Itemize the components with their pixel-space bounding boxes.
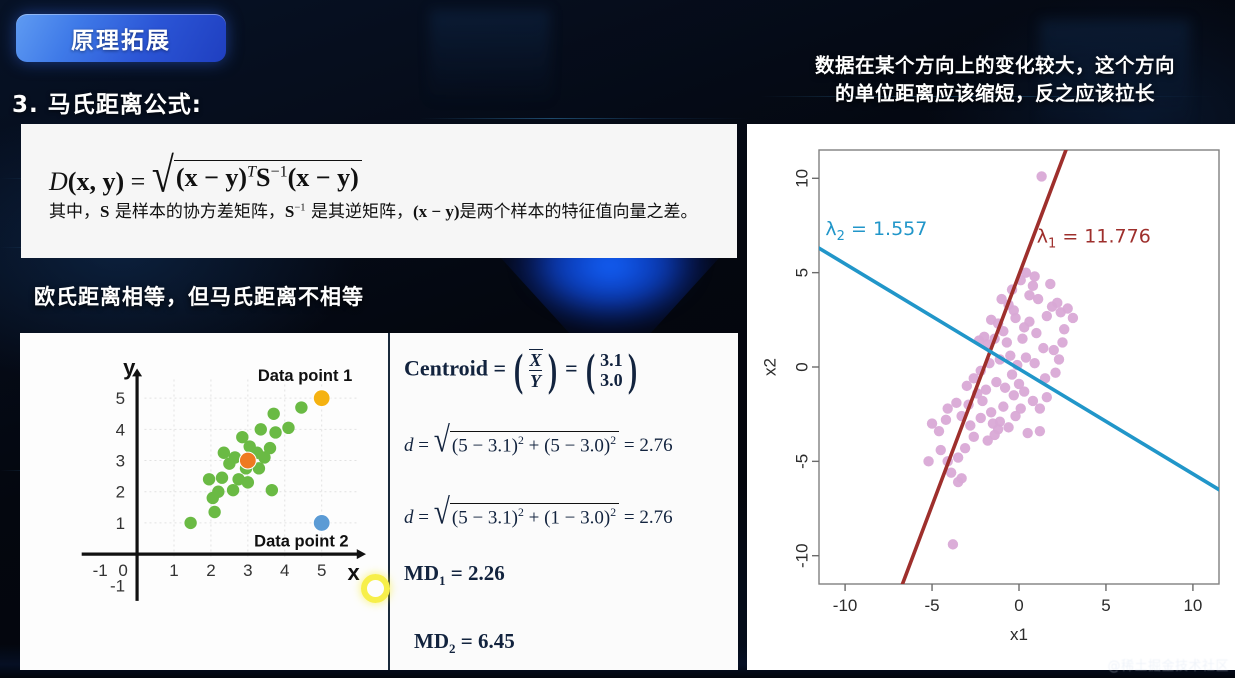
data-point (1009, 305, 1019, 315)
d1-result-equals: = (624, 435, 635, 456)
data-point (981, 384, 991, 394)
watermark: @稀土掘金技术社区 (1107, 655, 1229, 674)
data-point-cluster (255, 423, 267, 435)
data-point (941, 415, 951, 425)
note-text-3: 是其逆矩阵， (311, 202, 413, 222)
d2-lhs: d (404, 507, 414, 528)
euclidean-figure-panel: yx-1012345-112345Data point 1Data point … (20, 333, 738, 670)
d1-exp-2: 2 (610, 434, 616, 447)
md1-value: 2.26 (468, 561, 505, 585)
data-point (1031, 328, 1041, 338)
x-axis-label: x (348, 560, 361, 585)
radicand-S-inverse-exp: −1 (270, 163, 287, 180)
y-axis-label: x2 (760, 358, 779, 376)
paren-close-icon: ) (547, 354, 556, 386)
data-point (1024, 290, 1034, 300)
x-tick-label: 10 (1183, 596, 1202, 615)
data-point (1028, 281, 1038, 291)
data-point (1059, 324, 1069, 334)
background-streak (420, 118, 750, 119)
euclidean-distance-2-equation: d = √ (5 − 3.1)2 + (1 − 3.0)2 = 2.76 (404, 501, 673, 529)
x-tick-label: 3 (243, 561, 252, 580)
centroid-ybar: Y (529, 370, 542, 391)
x-tick-label: 4 (280, 561, 289, 580)
data-point (1017, 333, 1027, 343)
centroid-xbar: X (529, 349, 543, 370)
y-tick-label: 10 (792, 169, 811, 188)
note-text-4: 是两个样本的特征值向量之差。 (459, 202, 697, 222)
x-tick-label: 0 (1014, 596, 1023, 615)
data-point (1002, 337, 1012, 347)
euclidean-caption: 欧氏距离相等，但马氏距离不相等 (34, 281, 364, 311)
data-point (962, 381, 972, 391)
radicand: (5 − 3.1)2 + (5 − 3.0)2 (450, 431, 619, 457)
x-tick-label: 1 (169, 561, 178, 580)
data-point (1005, 350, 1015, 360)
x-tick-label: 5 (1101, 596, 1110, 615)
data-point (1024, 317, 1034, 327)
data-point (923, 456, 933, 466)
data-point (1007, 369, 1017, 379)
data-point (934, 426, 944, 436)
x-tick-label: 2 (206, 561, 215, 580)
data-point (965, 420, 975, 430)
right-annotation: 数据在某个方向上的变化较大，这个方向 的单位距离应该缩短，反之应该拉长 (770, 52, 1220, 109)
page-title: 3. 马氏距离公式: (12, 85, 202, 119)
data-point-centroid (239, 452, 256, 469)
centroid-equation: Centroid = ( X Y ) = ( 3.1 3.0 (404, 349, 640, 391)
data-point (960, 443, 970, 453)
data-point (1035, 426, 1045, 436)
d2-equals: = (418, 507, 429, 528)
centroid-vector: ( X Y ) (511, 349, 559, 391)
data-point (977, 396, 987, 406)
centroid-equals-2: = (565, 355, 578, 380)
formula-panel: D(x, y) = √ (x − y)TS−1(x − y) 其中，S 是样本的… (21, 124, 737, 258)
scatter-chart-left-svg: yx-1012345-112345Data point 1Data point … (20, 333, 388, 670)
data-point-cluster (243, 440, 255, 452)
radical-sign: √ (434, 497, 450, 532)
md2-label: MD (414, 629, 449, 653)
note-symbol-diff: (x − y) (413, 202, 460, 221)
data-point-cluster (216, 472, 228, 484)
data-point (1038, 343, 1048, 353)
md1-label: MD (404, 561, 439, 585)
data-point (1062, 303, 1072, 313)
data-point (1049, 345, 1059, 355)
x-tick-label: -5 (924, 596, 939, 615)
data-point (993, 424, 1003, 434)
square-root: √ (5 − 3.1)2 + (1 − 3.0)2 (434, 501, 619, 529)
data-point-cluster (267, 408, 279, 420)
md2-value: 6.45 (478, 629, 515, 653)
md2-subscript: 2 (449, 641, 456, 656)
d2-plus: + (529, 507, 540, 528)
background-block (430, 10, 550, 100)
radicand-diff-1: (x − y) (176, 163, 247, 192)
data-point (1068, 313, 1078, 323)
y-tick-label: -5 (792, 454, 811, 469)
right-annotation-line2: 的单位距离应该缩短，反之应该拉长 (770, 80, 1220, 108)
y-axis-label: y (123, 355, 136, 380)
y-tick-label: 5 (792, 268, 811, 277)
x-axis-arrow-icon (357, 549, 366, 559)
eigenvalue-symbol: λ (825, 218, 836, 240)
data-point (1050, 367, 1060, 377)
data-point-cluster (269, 426, 281, 438)
data-point-cluster (266, 484, 278, 496)
data-point-cluster (208, 506, 220, 518)
mahalanobis-distance-2: MD2 = 6.45 (414, 629, 515, 657)
data-point (953, 477, 963, 487)
radicand-transpose: T (247, 163, 256, 180)
note-text-1: 其中， (49, 202, 100, 222)
pca-chart-svg: λ1 = 11.776λ2 = 1.557-10-50510x1-10-5051… (747, 124, 1235, 670)
slide-canvas: 原理拓展 3. 马氏距离公式: D(x, y) = √ (x − y)TS−1(… (0, 0, 1235, 678)
note-symbol-S: S (100, 202, 109, 221)
square-root: √ (5 − 3.1)2 + (5 − 3.0)2 (434, 429, 619, 457)
data-point (1036, 171, 1046, 181)
section-badge-label: 原理拓展 (71, 21, 171, 55)
centroid-values: 3.1 3.0 (598, 350, 625, 390)
y-tick-label: -1 (110, 576, 125, 595)
radicand: (x − y)TS−1(x − y) (174, 160, 362, 195)
d2-result-equals: = (624, 507, 635, 528)
data-point (936, 445, 946, 455)
y-tick-label: 0 (792, 362, 811, 371)
radical-sign: √ (152, 153, 174, 198)
d1-exp-1: 2 (518, 434, 524, 447)
y-tick-label: -10 (792, 543, 811, 568)
data-point (998, 401, 1008, 411)
formula-lhs-args: (x, y) (68, 167, 124, 196)
scatter-annotation: Data point 2 (254, 532, 348, 550)
data-point-cluster (295, 401, 307, 413)
pca-chart-panel: λ1 = 11.776λ2 = 1.557-10-50510x1-10-5051… (747, 124, 1235, 670)
right-annotation-line1: 数据在某个方向上的变化较大，这个方向 (770, 52, 1220, 80)
centroid-value-y: 3.0 (600, 370, 623, 390)
radical-sign: √ (434, 425, 450, 460)
formula-lhs-symbol: D (49, 167, 68, 196)
radicand: (5 − 3.1)2 + (1 − 3.0)2 (450, 503, 619, 529)
d1-result: 2.76 (639, 435, 672, 456)
data-point (953, 452, 963, 462)
d2-exp-2: 2 (610, 506, 616, 519)
x-tick-label: -1 (93, 561, 108, 580)
data-point-cluster (218, 447, 230, 459)
data-point (1021, 352, 1031, 362)
paren-open-icon: ( (514, 354, 523, 386)
mahalanobis-distance-1: MD1 = 2.26 (404, 561, 505, 589)
paren-close-icon: ) (628, 354, 637, 386)
md1-equals: = (451, 561, 463, 585)
d2-exp-1: 2 (518, 506, 524, 519)
y-tick-label: 3 (116, 452, 125, 471)
centroid-value-vector: ( 3.1 3.0 ) (583, 350, 640, 390)
data-point-cluster (282, 422, 294, 434)
data-point (986, 407, 996, 417)
data-point (951, 398, 961, 408)
data-point-cluster (184, 517, 196, 529)
data-point-cluster (203, 473, 215, 485)
data-point (1042, 392, 1052, 402)
data-point (1016, 403, 1026, 413)
d2-term-2: (1 − 3.0) (544, 507, 610, 528)
data-point (991, 377, 1001, 387)
euclidean-distance-1-equation: d = √ (5 − 3.1)2 + (5 − 3.0)2 = 2.76 (404, 429, 673, 457)
note-symbol-S-inverse: S (285, 202, 294, 221)
radicand-diff-2: (x − y) (288, 163, 359, 192)
section-badge[interactable]: 原理拓展 (16, 14, 226, 62)
x-tick-label: -10 (833, 596, 858, 615)
data-point-cluster (242, 476, 254, 488)
data-point (982, 435, 992, 445)
data-point (976, 413, 986, 423)
data-point (942, 403, 952, 413)
data-point (1029, 271, 1039, 281)
y-tick-label: 5 (116, 389, 125, 408)
radicand-S: S (256, 163, 270, 192)
data-point (1052, 298, 1062, 308)
md1-subscript: 1 (439, 573, 446, 588)
data-point (1000, 383, 1010, 393)
math-derivation-panel: Centroid = ( X Y ) = ( 3.1 3.0 (388, 333, 738, 670)
data-point (969, 432, 979, 442)
eigenvalue-value: = 11.776 (1056, 225, 1150, 247)
mahalanobis-formula: D(x, y) = √ (x − y)TS−1(x − y) (49, 158, 715, 197)
d2-result: 2.76 (639, 507, 672, 528)
data-point (1045, 279, 1055, 289)
formula-equals: = (131, 167, 146, 196)
y-tick-label: 2 (116, 483, 125, 502)
formula-explanation: 其中，S 是样本的协方差矩阵，S−1 是其逆矩阵，(x − y)是两个样本的特征… (49, 201, 715, 224)
data-point-data-point-1 (313, 390, 330, 407)
centroid-value-x: 3.1 (600, 350, 623, 370)
data-point (1009, 390, 1019, 400)
eigenvalue-subscript: 2 (837, 229, 845, 244)
x-tick-label: 5 (317, 561, 326, 580)
x-axis-label: x1 (1010, 625, 1028, 644)
data-point (1057, 337, 1067, 347)
md2-equals: = (461, 629, 473, 653)
data-point (1022, 428, 1032, 438)
note-symbol-S-inverse-exp: −1 (294, 202, 305, 213)
data-point-cluster (223, 457, 235, 469)
data-point (948, 539, 958, 549)
note-text-2: 是样本的协方差矩阵， (115, 202, 285, 222)
d1-equals: = (418, 435, 429, 456)
y-tick-label: 4 (116, 420, 125, 439)
data-point (1035, 403, 1045, 413)
highlight-ring-annotation (361, 574, 390, 603)
data-point (1054, 354, 1064, 364)
square-root: √ (x − y)TS−1(x − y) (152, 158, 362, 195)
eigenvalue-subscript: 1 (1048, 236, 1056, 251)
eigenvalue-value: = 1.557 (845, 218, 927, 240)
data-point (1014, 379, 1024, 389)
y-tick-label: 1 (116, 514, 125, 533)
data-point-cluster (258, 451, 270, 463)
eigenvalue-symbol: λ (1037, 225, 1048, 247)
data-point-cluster (212, 486, 224, 498)
d1-plus: + (529, 435, 540, 456)
data-point (1042, 311, 1052, 321)
scatter-chart-left: yx-1012345-112345Data point 1Data point … (20, 333, 388, 670)
paren-open-icon: ( (586, 354, 595, 386)
d1-term-2: (5 − 3.0) (544, 435, 610, 456)
centroid-equals-1: = (493, 355, 506, 380)
data-point-cluster (227, 484, 239, 496)
scatter-annotation: Data point 1 (258, 367, 352, 385)
d2-term-1: (5 − 3.1) (452, 507, 518, 528)
centroid-label: Centroid (404, 355, 488, 380)
data-point (1003, 422, 1013, 432)
data-point-data-point-2 (313, 515, 330, 532)
d1-lhs: d (404, 435, 414, 456)
data-point (1029, 358, 1039, 368)
d1-term-1: (5 − 3.1) (452, 435, 518, 456)
centroid-vector-body: X Y (527, 349, 545, 391)
